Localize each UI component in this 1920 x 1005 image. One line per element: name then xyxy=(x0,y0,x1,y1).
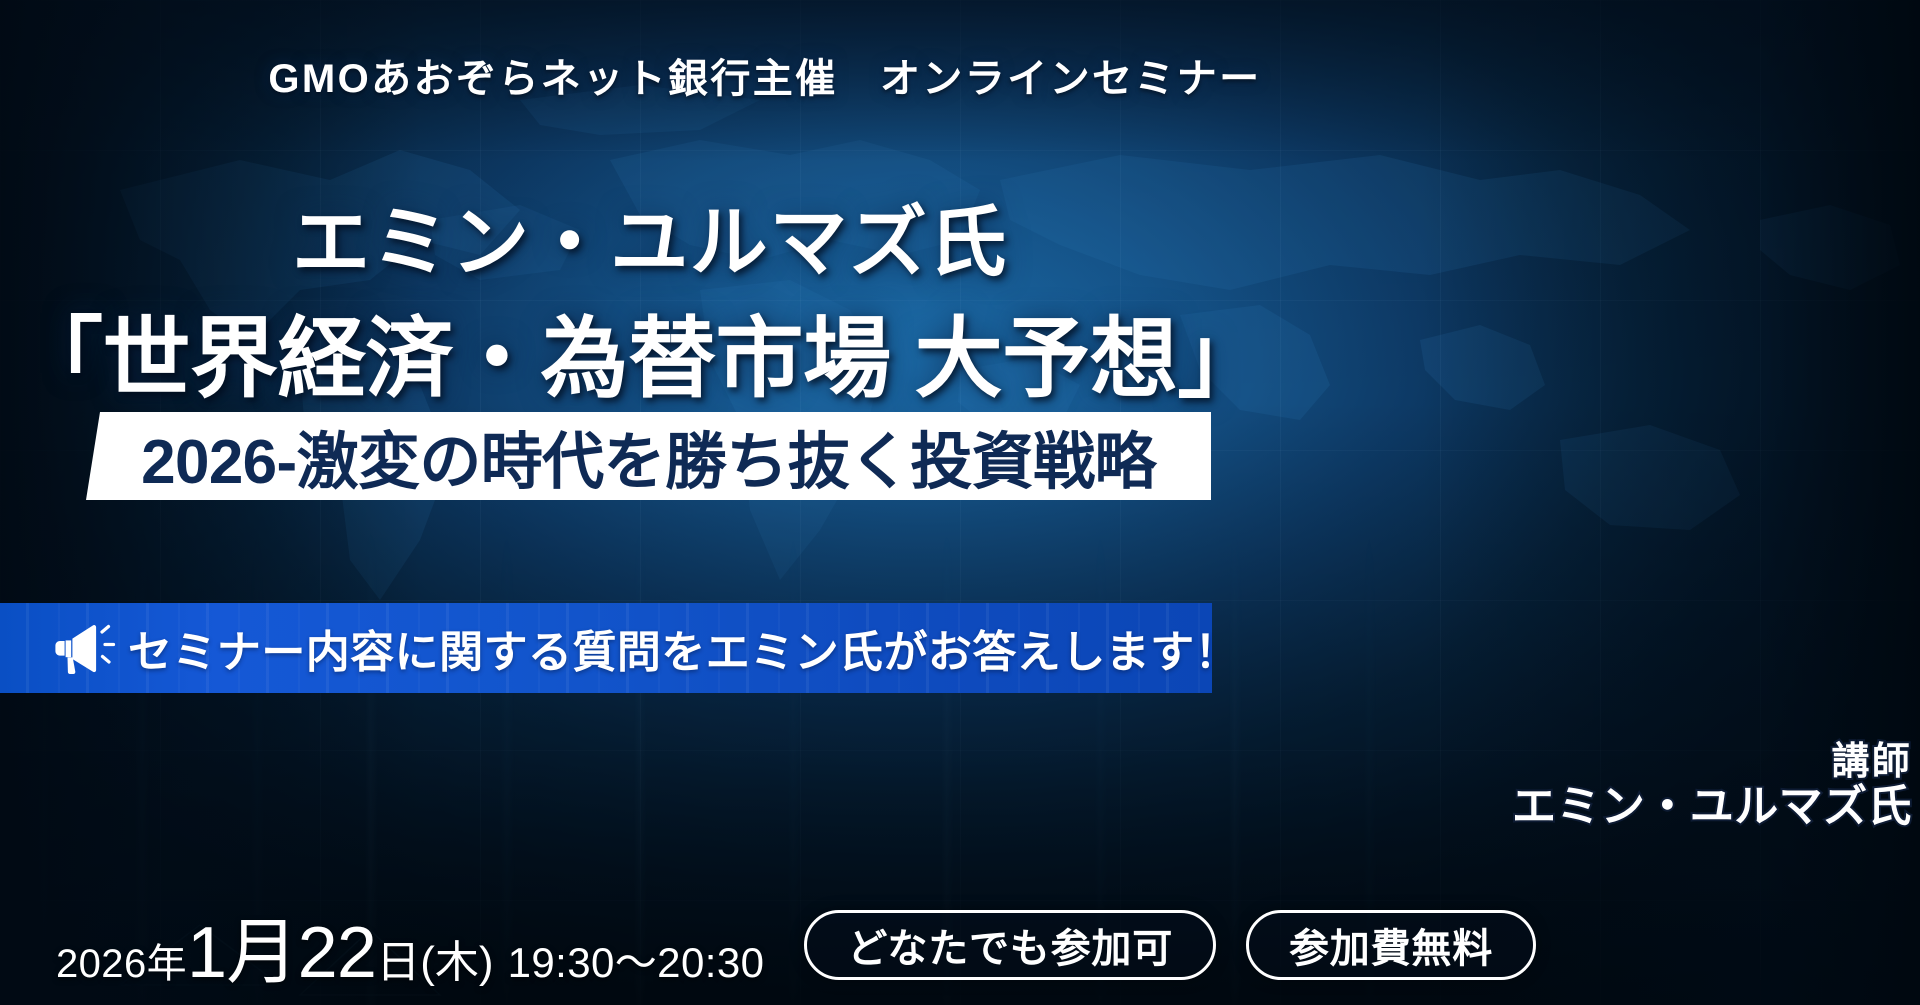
badge-open-to-all: どなたでも参加可 xyxy=(804,910,1216,980)
seminar-banner: 講師 エミン・ユルマズ氏 GMOあおぞらネット銀行主催 オンラインセミナー エミ… xyxy=(0,0,1920,1005)
speaker-name: エミン・ユルマズ氏 xyxy=(1512,783,1912,831)
speaker-caption: 講師 エミン・ユルマズ氏 xyxy=(1512,742,1912,831)
title-line-1: エミン・ユルマズ氏 xyxy=(0,180,1300,292)
subtitle-banner: 2026-激変の時代を勝ち抜く投資戦略 xyxy=(86,412,1211,500)
qa-strip-text: セミナー内容に関する質問をエミン氏がお答えします！ xyxy=(128,616,1212,680)
event-time: 19:30〜20:30 xyxy=(508,929,765,990)
footer-bar: 2026年 1月 22 日 (木) 19:30〜20:30 どなたでも参加可 参… xyxy=(0,885,1920,1005)
event-month: 1月 xyxy=(187,893,298,998)
qa-strip: セミナー内容に関する質問をエミン氏がお答えします！ xyxy=(0,603,1212,693)
event-host-header: GMOあおぞらネット銀行主催 オンラインセミナー xyxy=(0,46,1530,104)
event-day-number: 22 xyxy=(298,912,377,994)
megaphone-icon xyxy=(52,618,116,679)
event-weekday: (木) xyxy=(420,926,493,990)
speaker-role: 講師 xyxy=(1512,742,1912,783)
badge-free-entry: 参加費無料 xyxy=(1246,910,1536,980)
title-line-2: 「世界経済・為替市場 大予想」 xyxy=(0,288,1280,415)
subtitle-banner-text: 2026-激変の時代を勝ち抜く投資戦略 xyxy=(86,412,1211,500)
event-day-unit: 日 xyxy=(376,926,420,990)
event-year: 2026年 xyxy=(56,931,187,989)
event-datetime: 2026年 1月 22 日 (木) 19:30〜20:30 xyxy=(56,893,764,998)
